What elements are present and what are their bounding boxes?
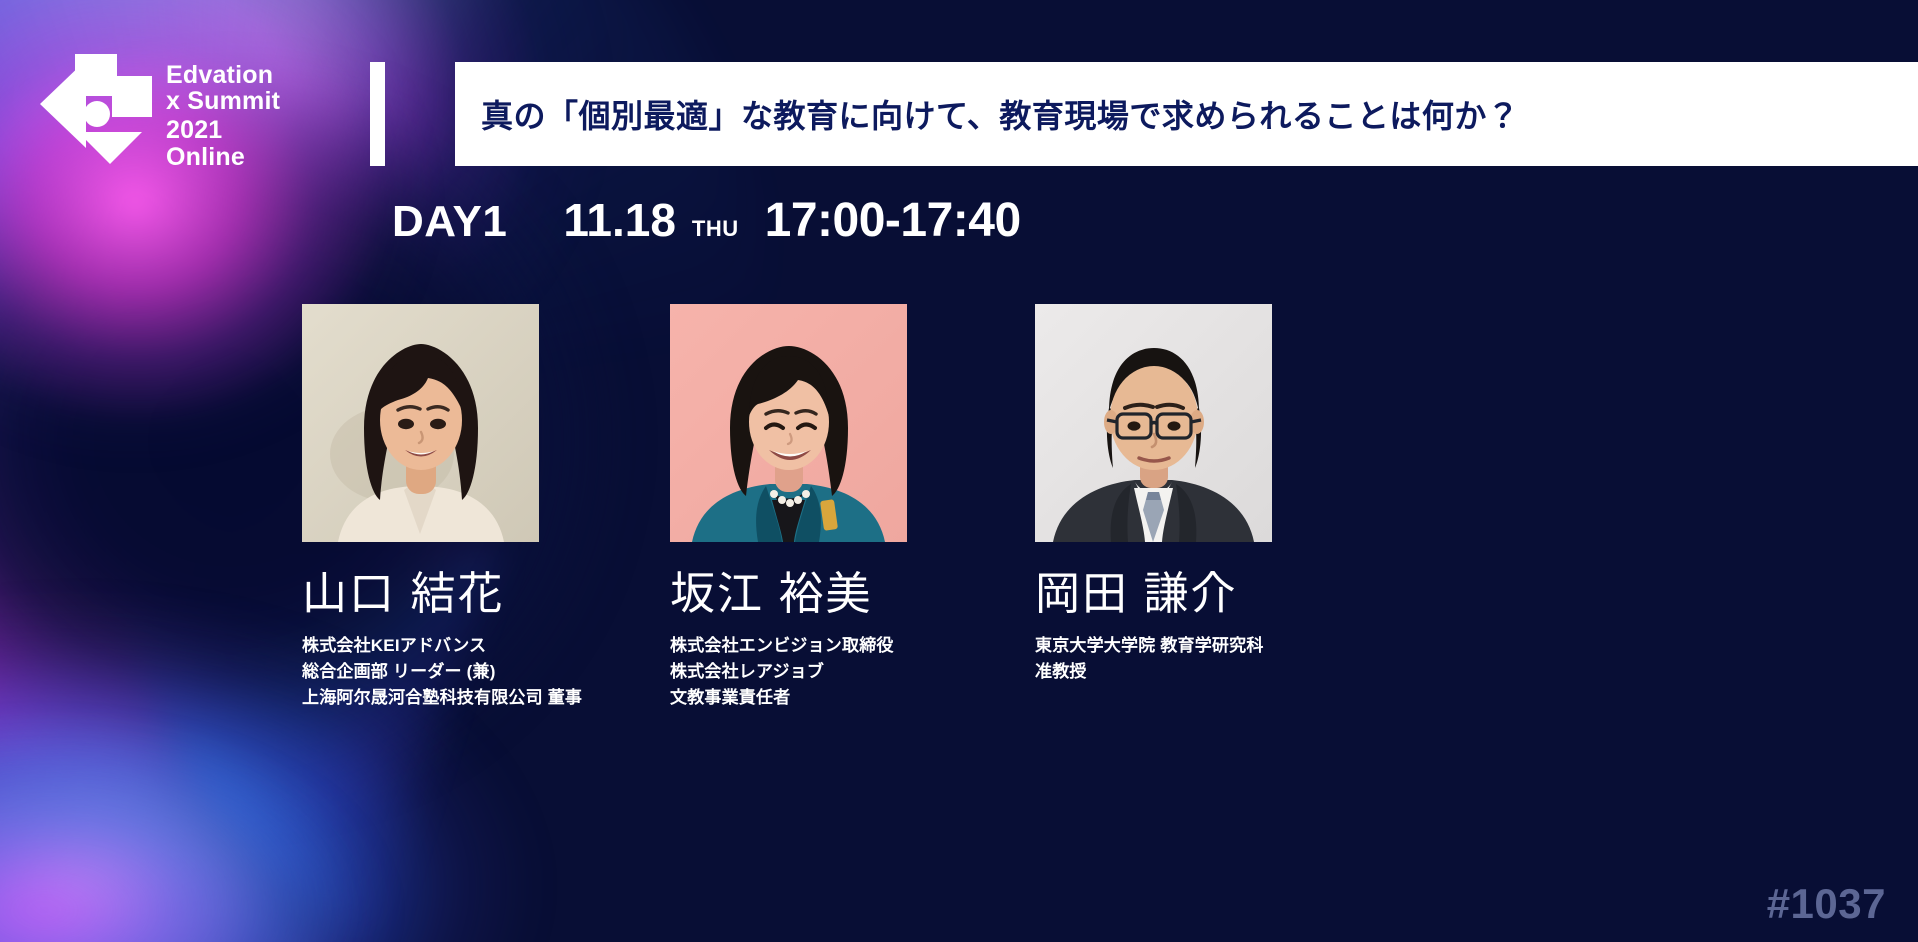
speaker-card: 坂江 裕美 株式会社エンビジョン取締役 株式会社レアジョブ 文教事業責任者 (670, 304, 907, 712)
speaker-photo (1035, 304, 1272, 542)
speaker-card: 山口 結花 株式会社KEIアドバンス 総合企画部 リーダー (兼) 上海阿尔晟河… (302, 304, 582, 712)
speaker-affiliation-line: 東京大学大学院 教育学研究科 (1035, 633, 1272, 659)
speaker-name: 坂江 裕美 (670, 569, 907, 619)
speaker-affiliation: 東京大学大学院 教育学研究科 准教授 (1035, 633, 1272, 686)
speaker-affiliation-line: 准教授 (1035, 659, 1272, 685)
speaker-photo (302, 304, 539, 542)
speaker-affiliation: 株式会社エンビジョン取締役 株式会社レアジョブ 文教事業責任者 (670, 633, 907, 712)
session-number-badge: #1037 (1767, 880, 1886, 928)
speaker-affiliation: 株式会社KEIアドバンス 総合企画部 リーダー (兼) 上海阿尔晟河合塾科技有限… (302, 633, 582, 712)
speaker-name: 山口 結花 (302, 569, 582, 619)
session-card: Edvation x Summit 2021 Online 真の「個別最適」な教… (0, 0, 1918, 942)
speaker-affiliation-line: 株式会社エンビジョン取締役 (670, 633, 907, 659)
speaker-card: 岡田 謙介 東京大学大学院 教育学研究科 准教授 (1035, 304, 1272, 685)
speaker-list: 山口 結花 株式会社KEIアドバンス 総合企画部 リーダー (兼) 上海阿尔晟河… (0, 0, 1918, 942)
speaker-affiliation-line: 総合企画部 リーダー (兼) (302, 659, 582, 685)
speaker-affiliation-line: 上海阿尔晟河合塾科技有限公司 董事 (302, 685, 582, 711)
speaker-photo (670, 304, 907, 542)
speaker-affiliation-line: 文教事業責任者 (670, 685, 907, 711)
speaker-affiliation-line: 株式会社レアジョブ (670, 659, 907, 685)
speaker-affiliation-line: 株式会社KEIアドバンス (302, 633, 582, 659)
speaker-name: 岡田 謙介 (1035, 569, 1272, 619)
